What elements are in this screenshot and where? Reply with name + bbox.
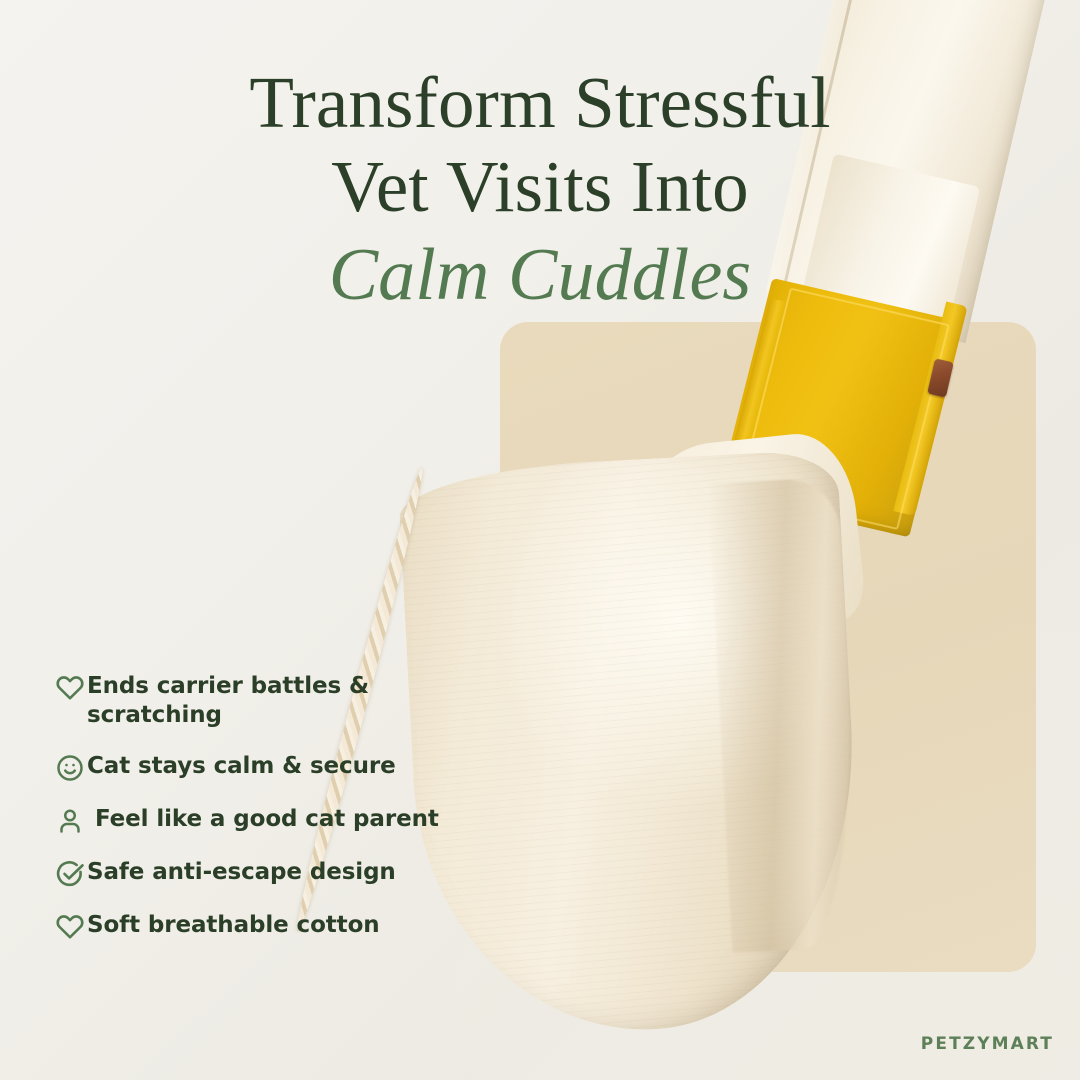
feature-list: Ends carrier battles & scratching Cat st… [55, 672, 495, 942]
feature-label: Ends carrier battles & scratching [85, 672, 495, 730]
promo-poster: Transform Stressful Vet Visits Into Calm… [0, 0, 1080, 1080]
heart-icon [55, 912, 85, 942]
headline-line-3-accent: Calm Cuddles [0, 230, 1080, 319]
feature-item-2: Cat stays calm & secure [55, 752, 495, 783]
headline: Transform Stressful Vet Visits Into Calm… [0, 62, 1080, 319]
beige-backdrop-panel [500, 322, 1036, 972]
feature-label: Feel like a good cat parent [85, 805, 439, 834]
check-circle-icon [55, 859, 85, 889]
feature-label: Cat stays calm & secure [85, 752, 396, 781]
headline-line-1: Transform Stressful [0, 62, 1080, 146]
person-icon [55, 806, 85, 836]
feature-item-4: Safe anti-escape design [55, 858, 495, 889]
brand-wordmark: PETZYMART [921, 1034, 1054, 1054]
feature-label: Soft breathable cotton [85, 911, 380, 940]
heart-icon [55, 673, 85, 703]
feature-item-3: Feel like a good cat parent [55, 805, 495, 836]
feature-label: Safe anti-escape design [85, 858, 396, 887]
smiley-face-icon [55, 753, 85, 783]
feature-item-1: Ends carrier battles & scratching [55, 672, 495, 730]
feature-item-5: Soft breathable cotton [55, 911, 495, 942]
headline-line-2: Vet Visits Into [0, 146, 1080, 230]
